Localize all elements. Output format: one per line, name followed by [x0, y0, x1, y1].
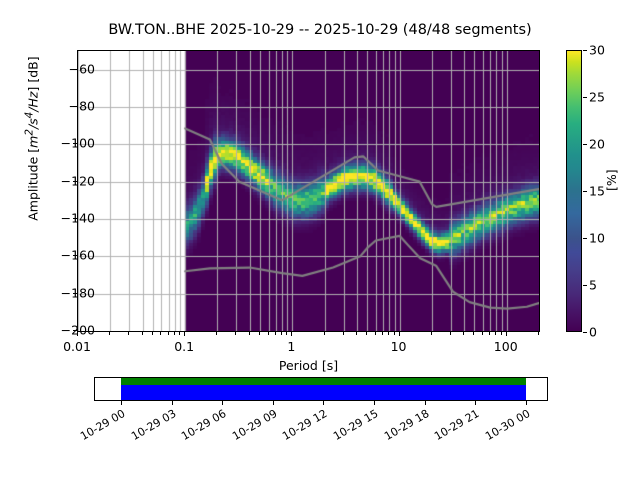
x-tick-minor: [174, 332, 175, 335]
x-tick-minor: [281, 332, 282, 335]
timeline-tick: [526, 401, 527, 405]
colorbar-tick: [583, 50, 587, 51]
colorbar-tick: [583, 144, 587, 145]
x-tick-minor: [366, 332, 367, 335]
timeline-tick: [475, 401, 476, 405]
x-tick-minor: [501, 332, 502, 335]
timeline-tick: [222, 401, 223, 405]
colorbar-label: [%]: [604, 169, 619, 191]
timeline-tick: [323, 401, 324, 405]
x-tick-major: [291, 332, 292, 336]
x-tick-minor: [489, 332, 490, 335]
x-tick-label: 100: [494, 339, 518, 354]
y-tick-label: −60: [69, 61, 95, 76]
y-axis-label: Amplitude [m2/s4/Hz] [dB]: [23, 0, 40, 279]
x-tick-minor: [394, 332, 395, 335]
timeline-tick: [374, 401, 375, 405]
x-tick-minor: [495, 332, 496, 335]
x-tick-minor: [538, 332, 539, 335]
ppsd-figure: BW.TON..BHE 2025-10-29 -- 2025-10-29 (48…: [0, 0, 640, 480]
x-tick-minor: [128, 332, 129, 335]
timeline-tick: [121, 401, 122, 405]
colorbar-tick-label: 0: [589, 325, 597, 340]
colorbar-tick-label: 5: [589, 278, 597, 293]
x-tick-minor: [168, 332, 169, 335]
x-tick-minor: [142, 332, 143, 335]
x-tick-minor: [160, 332, 161, 335]
colorbar-tick: [583, 332, 587, 333]
colorbar-tick-label: 15: [589, 184, 605, 199]
x-tick-minor: [152, 332, 153, 335]
y-tick-label: −140: [61, 211, 95, 226]
x-tick-minor: [343, 332, 344, 335]
colorbar-tick-label: 30: [589, 43, 605, 58]
colorbar-tick: [583, 285, 587, 286]
x-tick-major: [506, 332, 507, 336]
x-tick-major: [399, 332, 400, 336]
x-tick-minor: [431, 332, 432, 335]
colorbar-tick-label: 10: [589, 231, 605, 246]
colorbar-tick-label: 20: [589, 137, 605, 152]
x-tick-label: 10: [391, 339, 407, 354]
timeline-tick: [273, 401, 274, 405]
x-axis-label: Period [s]: [77, 358, 540, 373]
colorbar-tick: [583, 191, 587, 192]
data-coverage-band: [121, 378, 526, 385]
x-tick-minor: [473, 332, 474, 335]
y-tick-label: −120: [61, 173, 95, 188]
x-tick-minor: [388, 332, 389, 335]
psd-segments-band: [121, 385, 526, 400]
x-tick-minor: [382, 332, 383, 335]
timeline-tick: [425, 401, 426, 405]
timeline-tick-label: 10-29 15: [319, 407, 381, 450]
x-tick-minor: [109, 332, 110, 335]
y-tick-label: −100: [61, 136, 95, 151]
timeline-tick: [172, 401, 173, 405]
x-tick-label: 0.01: [63, 339, 91, 354]
x-tick-minor: [216, 332, 217, 335]
x-tick-minor: [356, 332, 357, 335]
colorbar-tick: [583, 97, 587, 98]
ppsd-plot-area[interactable]: [77, 50, 540, 332]
colorbar: [566, 50, 582, 332]
x-tick-minor: [235, 332, 236, 335]
x-tick-minor: [259, 332, 260, 335]
x-tick-minor: [375, 332, 376, 335]
figure-title: BW.TON..BHE 2025-10-29 -- 2025-10-29 (48…: [0, 22, 640, 38]
x-tick-minor: [179, 332, 180, 335]
colorbar-tick-label: 25: [589, 90, 605, 105]
x-tick-major: [184, 332, 185, 336]
x-tick-minor: [286, 332, 287, 335]
timeline-coverage-bar[interactable]: [94, 377, 548, 401]
x-tick-minor: [482, 332, 483, 335]
y-tick-label: −180: [61, 285, 95, 300]
x-tick-minor: [450, 332, 451, 335]
x-tick-label: 1: [287, 339, 295, 354]
x-tick-minor: [268, 332, 269, 335]
x-tick-minor: [275, 332, 276, 335]
x-tick-major: [77, 332, 78, 336]
y-tick-label: −80: [69, 99, 95, 114]
x-tick-minor: [324, 332, 325, 335]
x-tick-minor: [463, 332, 464, 335]
colorbar-tick: [583, 238, 587, 239]
x-tick-label: 0.1: [174, 339, 194, 354]
y-tick-label: −160: [61, 248, 95, 263]
x-tick-minor: [249, 332, 250, 335]
timeline-tick-label: 10-30 00: [470, 407, 532, 450]
peterson-noise-model-curves: [78, 51, 539, 331]
